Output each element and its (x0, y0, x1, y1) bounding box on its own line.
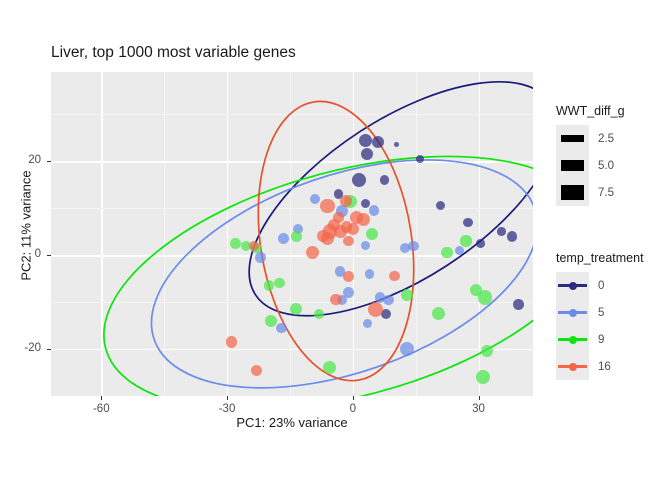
data-point-temp-0 (513, 299, 523, 309)
data-point-temp-5 (455, 246, 464, 255)
data-point-temp-0 (394, 142, 399, 147)
legend-point-dot (569, 282, 577, 290)
x-tick-label: 30 (449, 403, 509, 415)
data-point-temp-16 (330, 294, 341, 305)
data-point-temp-0 (372, 136, 384, 148)
data-point-temp-0 (416, 155, 424, 163)
x-tick-mark (479, 396, 480, 400)
data-point-temp-16 (321, 232, 334, 245)
data-point-temp-9 (401, 289, 413, 301)
data-point-temp-9 (460, 235, 471, 246)
data-points-layer (51, 72, 533, 396)
data-point-temp-16 (306, 246, 319, 259)
data-point-temp-5 (383, 295, 393, 305)
data-point-temp-9 (314, 309, 324, 319)
data-point-temp-16 (343, 271, 354, 282)
size-legend-label: 2.5 (598, 133, 614, 145)
color-legend-item-0[interactable]: 0 (556, 272, 644, 299)
size-legend-item[interactable]: 7.5 (556, 179, 625, 206)
data-point-temp-5 (255, 252, 265, 262)
legend-point-dot (569, 363, 577, 371)
data-point-temp-9 (265, 315, 277, 327)
data-point-temp-9 (441, 247, 452, 258)
x-tick-label: 0 (323, 403, 383, 415)
pca-scatter-plot: Liver, top 1000 most variable genes -60-… (0, 0, 672, 480)
color-legend-item-16[interactable]: 16 (556, 353, 644, 380)
x-axis-label: PC1: 23% variance (51, 415, 533, 430)
data-point-temp-9 (476, 370, 490, 384)
data-point-temp-16 (357, 213, 370, 226)
data-point-temp-0 (497, 227, 505, 235)
data-point-temp-5 (361, 241, 370, 250)
color-legend-title: temp_treatment (556, 251, 644, 265)
plot-panel (51, 72, 533, 396)
size-legend-swatch (556, 179, 589, 206)
data-point-temp-16 (389, 271, 399, 281)
color-legend-swatch (556, 272, 589, 299)
size-legend-swatch (556, 125, 589, 152)
data-point-temp-5 (408, 241, 418, 251)
color-legend: temp_treatment 05916 (556, 251, 644, 380)
color-legend-swatch (556, 326, 589, 353)
x-tick-label: -60 (71, 403, 131, 415)
x-tick-mark (227, 396, 228, 400)
data-point-temp-9 (323, 361, 336, 374)
data-point-temp-9 (230, 238, 240, 248)
size-legend: WWT_diff_g 2.55.07.5 (556, 104, 625, 206)
color-legend-label: 0 (598, 280, 604, 292)
data-point-temp-0 (361, 199, 370, 208)
size-legend-item[interactable]: 5.0 (556, 152, 625, 179)
data-point-temp-16 (347, 223, 359, 235)
color-legend-swatch (556, 353, 589, 380)
y-tick-label: -20 (0, 342, 41, 354)
x-tick-mark (101, 396, 102, 400)
data-point-temp-0 (359, 134, 372, 147)
data-point-temp-9 (274, 278, 284, 288)
y-tick-mark (47, 349, 51, 350)
data-point-temp-9 (264, 280, 274, 290)
size-swatch-bar (561, 160, 584, 171)
legend-point-dot (569, 336, 577, 344)
page-title: Liver, top 1000 most variable genes (51, 44, 296, 62)
data-point-temp-0 (476, 239, 484, 247)
size-legend-title: WWT_diff_g (556, 104, 625, 118)
data-point-temp-5 (365, 269, 374, 278)
y-tick-mark (47, 161, 51, 162)
data-point-temp-16 (343, 236, 353, 246)
color-legend-label: 5 (598, 307, 604, 319)
data-point-temp-5 (400, 342, 414, 356)
data-point-temp-0 (463, 218, 472, 227)
data-point-temp-16 (226, 336, 237, 347)
size-legend-label: 7.5 (598, 187, 614, 199)
y-tick-mark (47, 255, 51, 256)
x-tick-mark (353, 396, 354, 400)
data-point-temp-16 (368, 302, 383, 317)
size-legend-label: 5.0 (598, 160, 614, 172)
data-point-temp-5 (310, 194, 320, 204)
data-point-temp-9 (481, 345, 493, 357)
data-point-temp-5 (276, 323, 286, 333)
data-point-temp-16 (251, 365, 262, 376)
size-legend-swatch (556, 152, 589, 179)
color-legend-label: 16 (598, 361, 611, 373)
data-point-temp-5 (363, 319, 372, 328)
data-point-temp-5 (278, 233, 289, 244)
size-legend-item[interactable]: 2.5 (556, 125, 625, 152)
data-point-temp-0 (380, 175, 389, 184)
data-point-temp-9 (290, 303, 302, 315)
data-point-temp-5 (369, 205, 379, 215)
color-legend-item-9[interactable]: 9 (556, 326, 644, 353)
data-point-temp-0 (361, 148, 373, 160)
legend-point-dot (569, 309, 577, 317)
y-axis-label: PC2: 11% variance (19, 126, 34, 326)
size-swatch-bar (561, 185, 584, 200)
data-point-temp-9 (366, 228, 378, 240)
data-point-temp-0 (507, 231, 517, 241)
size-swatch-bar (561, 135, 584, 142)
data-point-temp-16 (320, 199, 334, 213)
color-legend-item-5[interactable]: 5 (556, 299, 644, 326)
color-legend-label: 9 (598, 334, 604, 346)
data-point-temp-9 (432, 307, 445, 320)
data-point-temp-0 (436, 201, 445, 210)
x-tick-label: -30 (197, 403, 257, 415)
data-point-temp-0 (352, 173, 366, 187)
data-point-temp-9 (291, 231, 302, 242)
color-legend-swatch (556, 299, 589, 326)
